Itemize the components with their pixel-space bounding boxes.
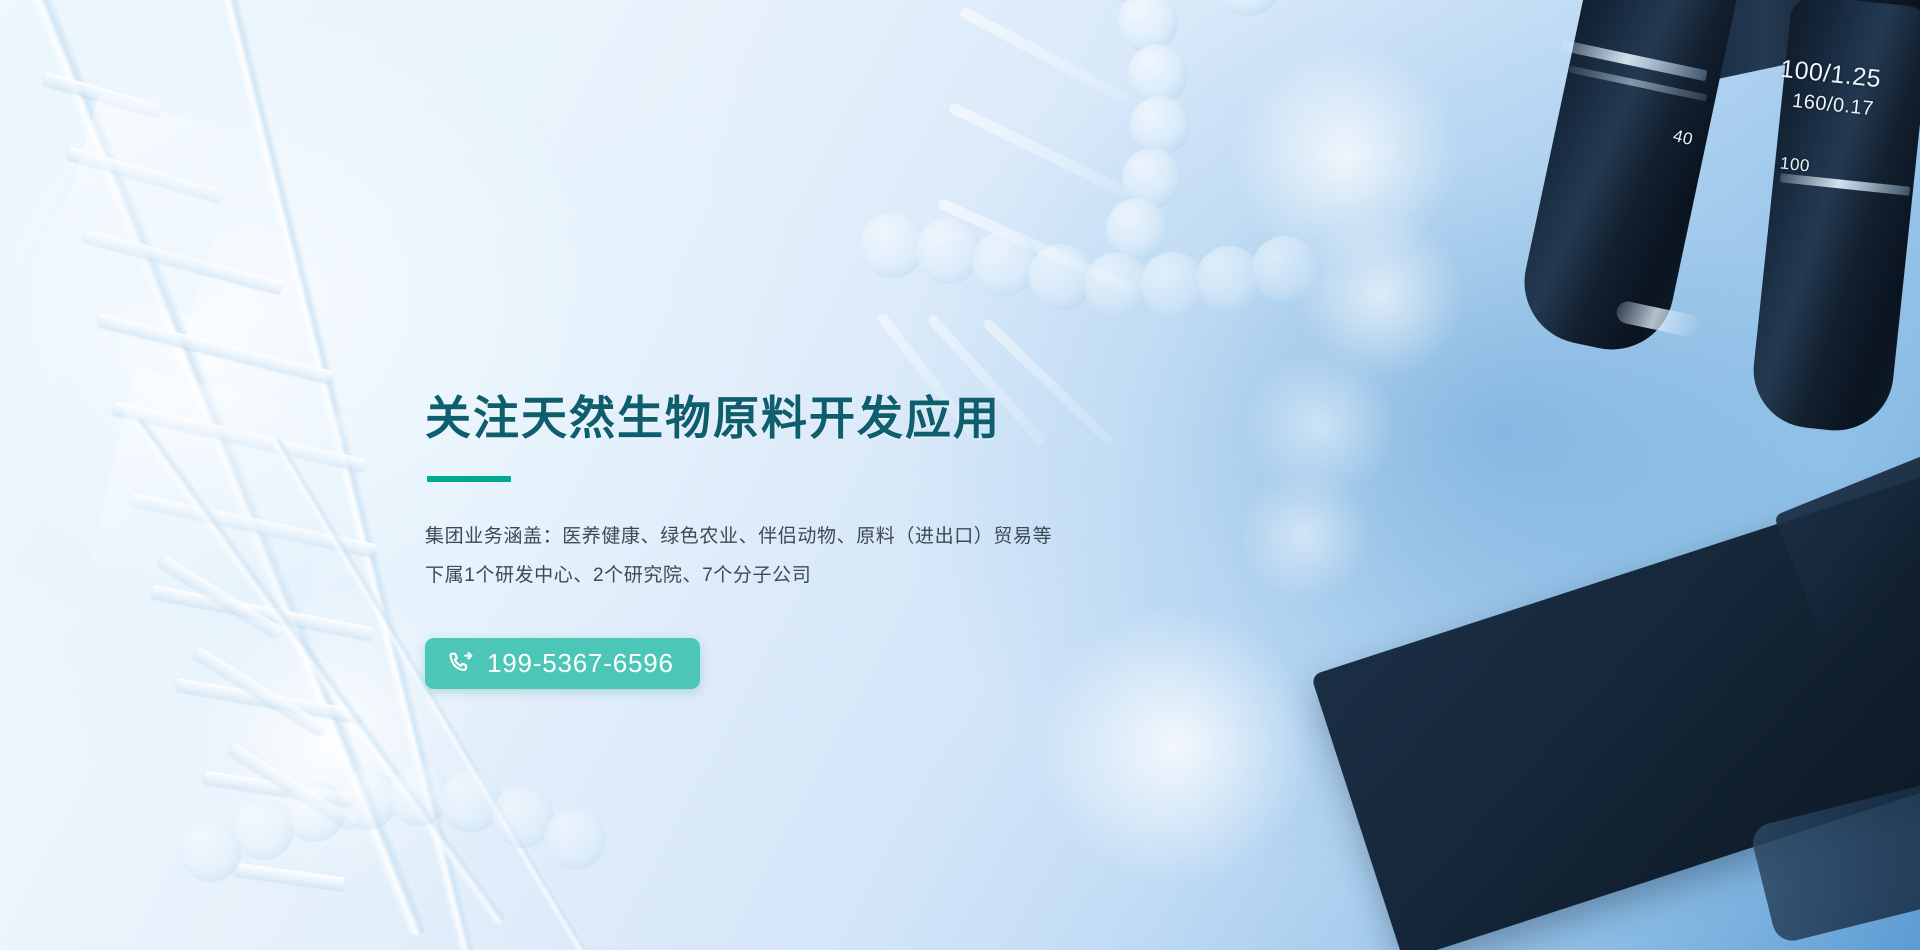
molecule-bead-chain-bottom [180, 690, 700, 950]
molecule-bead [1218, 0, 1280, 16]
molecule-bond [959, 6, 1132, 105]
helix-rung [66, 146, 223, 203]
hero-content: 关注天然生物原料开发应用 集团业务涵盖：医养健康、绿色农业、伴侣动物、原料（进出… [425, 390, 1245, 689]
microscope-label-tube: 160/0.17 [1791, 90, 1875, 121]
microscope-objective-secondary [1748, 0, 1920, 436]
helix-rung [157, 554, 283, 639]
phone-call-button[interactable]: 199-5367-6596 [425, 638, 700, 689]
helix-pane [47, 93, 244, 317]
helix-rung [97, 313, 333, 384]
microscope-objective-barrel [1513, 0, 1747, 361]
title-divider [427, 476, 511, 482]
helix-pane [90, 368, 349, 612]
helix-rung [43, 72, 162, 118]
objective-ring [1560, 40, 1707, 82]
description-line-1: 集团业务涵盖：医养健康、绿色农业、伴侣动物、原料（进出口）贸易等 [425, 518, 1245, 557]
helix-rung [129, 492, 376, 557]
helix-rung [82, 229, 283, 295]
molecule-bead [1196, 246, 1262, 312]
molecule-bead [1252, 236, 1318, 302]
helix-rung [112, 401, 366, 472]
objective-ring [1569, 66, 1707, 102]
molecule-bead [1130, 96, 1190, 156]
molecule-bond [948, 102, 1133, 200]
molecule-bead [544, 808, 606, 870]
phone-forward-icon [447, 650, 474, 677]
helix-rung [151, 585, 374, 641]
objective-lens-tip [1615, 300, 1702, 339]
molecule-bead [972, 230, 1038, 296]
molecule-bead [1128, 44, 1188, 104]
page-title: 关注天然生物原料开发应用 [425, 390, 1245, 446]
molecule-bead [916, 218, 982, 284]
microscope-label-40: 40 [1671, 126, 1695, 150]
microscope-label-100: 100 [1779, 153, 1811, 176]
description-line-2: 下属1个研发中心、2个研究院、7个分子公司 [425, 557, 1245, 596]
objective-ring [1780, 173, 1910, 196]
microscope-label-na: 100/1.25 [1779, 55, 1883, 94]
microscope-turret [1610, 0, 1920, 92]
phone-number-label: 199-5367-6596 [487, 650, 674, 676]
bokeh-glow [95, 250, 305, 460]
bokeh-glow [1240, 470, 1370, 600]
hero-banner: 40 100/1.25 160/0.17 100 关注天然生物原料开发应用 集团… [0, 0, 1920, 950]
hero-description: 集团业务涵盖：医养健康、绿色农业、伴侣动物、原料（进出口）贸易等 下属1个研发中… [425, 518, 1245, 596]
molecule-bead [1118, 0, 1178, 52]
microscope: 40 100/1.25 160/0.17 100 [1480, 0, 1920, 550]
